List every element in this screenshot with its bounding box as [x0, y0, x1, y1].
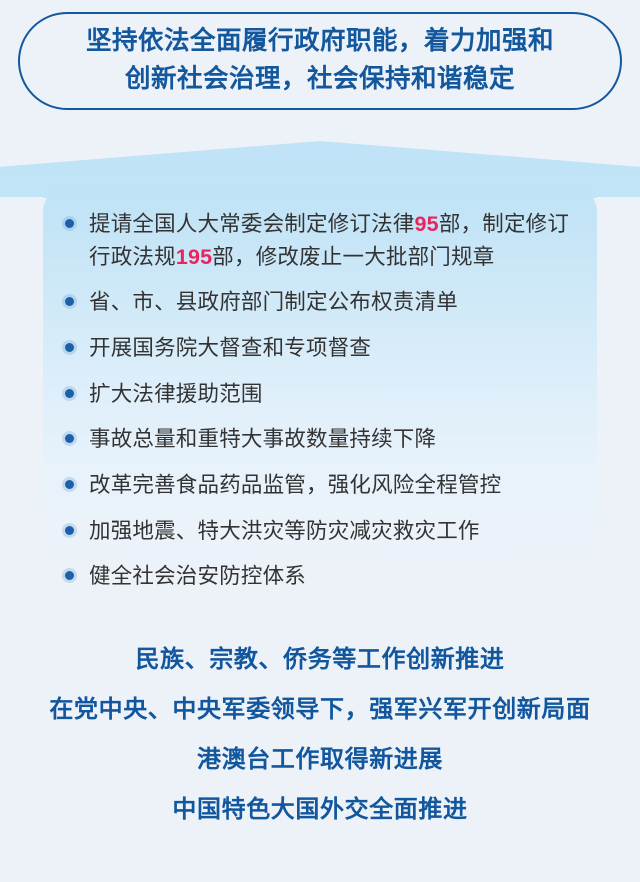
list-item: 改革完善食品药品监管，强化风险全程管控	[61, 469, 579, 502]
highlight-number: 95	[415, 212, 439, 236]
list-item-text: 省、市、县政府部门制定公布权责清单	[89, 290, 458, 314]
list-item: 加强地震、特大洪灾等防灾减灾救灾工作	[61, 515, 579, 548]
text-segment: 省、市、县政府部门制定公布权责清单	[89, 290, 458, 314]
text-segment: 提请全国人大常委会制定修订法律	[89, 212, 415, 236]
list-item-text: 健全社会治安防控体系	[89, 564, 306, 588]
bullet-panel: 提请全国人大常委会制定修订法律95部，制定修订行政法规195部，修改废止一大批部…	[43, 186, 597, 626]
highlight-number: 195	[176, 245, 212, 269]
list-item: 事故总量和重特大事故数量持续下降	[61, 423, 579, 456]
list-item-text: 改革完善食品药品监管，强化风险全程管控	[89, 473, 501, 497]
text-segment: 事故总量和重特大事故数量持续下降	[89, 427, 436, 451]
text-segment: 加强地震、特大洪灾等防灾减灾救灾工作	[89, 519, 480, 543]
bullet-dot-icon	[65, 343, 74, 352]
text-segment: 健全社会治安防控体系	[89, 564, 306, 588]
list-item-text: 提请全国人大常委会制定修订法律95部，制定修订行政法规195部，修改废止一大批部…	[89, 212, 569, 269]
title-banner: 坚持依法全面履行政府职能，着力加强和 创新社会治理，社会保持和谐稳定	[18, 12, 622, 110]
text-segment: 部，修改废止一大批部门规章	[212, 245, 494, 269]
list-item-text: 扩大法律援助范围	[89, 382, 263, 406]
bullet-dot-icon	[65, 219, 74, 228]
footer-headlines: 民族、宗教、侨务等工作创新推进在党中央、中央军委领导下，强军兴军开创新局面港澳台…	[0, 648, 640, 822]
list-item: 提请全国人大常委会制定修订法律95部，制定修订行政法规195部，修改废止一大批部…	[61, 208, 579, 273]
footer-headline: 在党中央、中央军委领导下，强军兴军开创新局面	[0, 698, 640, 722]
bullet-dot-icon	[65, 480, 74, 489]
list-item: 健全社会治安防控体系	[61, 560, 579, 593]
footer-headline: 中国特色大国外交全面推进	[0, 798, 640, 822]
footer-headline: 港澳台工作取得新进展	[0, 748, 640, 772]
infographic-page: 坚持依法全面履行政府职能，着力加强和 创新社会治理，社会保持和谐稳定 提请全国人…	[0, 0, 640, 882]
bullet-dot-icon	[65, 571, 74, 580]
text-segment: 改革完善食品药品监管，强化风险全程管控	[89, 473, 501, 497]
text-segment: 开展国务院大督查和专项督查	[89, 336, 371, 360]
bullet-dot-icon	[65, 434, 74, 443]
list-item-text: 加强地震、特大洪灾等防灾减灾救灾工作	[89, 519, 480, 543]
list-item: 省、市、县政府部门制定公布权责清单	[61, 286, 579, 319]
text-segment: 扩大法律援助范围	[89, 382, 263, 406]
list-item: 开展国务院大督查和专项督查	[61, 332, 579, 365]
bullet-dot-icon	[65, 389, 74, 398]
list-item-text: 事故总量和重特大事故数量持续下降	[89, 427, 436, 451]
footer-headline: 民族、宗教、侨务等工作创新推进	[0, 648, 640, 672]
bullet-dot-icon	[65, 297, 74, 306]
list-item: 扩大法律援助范围	[61, 378, 579, 411]
achievement-list: 提请全国人大常委会制定修订法律95部，制定修订行政法规195部，修改废止一大批部…	[61, 208, 579, 593]
page-title: 坚持依法全面履行政府职能，着力加强和 创新社会治理，社会保持和谐稳定	[50, 23, 590, 98]
list-item-text: 开展国务院大督查和专项督查	[89, 336, 371, 360]
bullet-dot-icon	[65, 526, 74, 535]
